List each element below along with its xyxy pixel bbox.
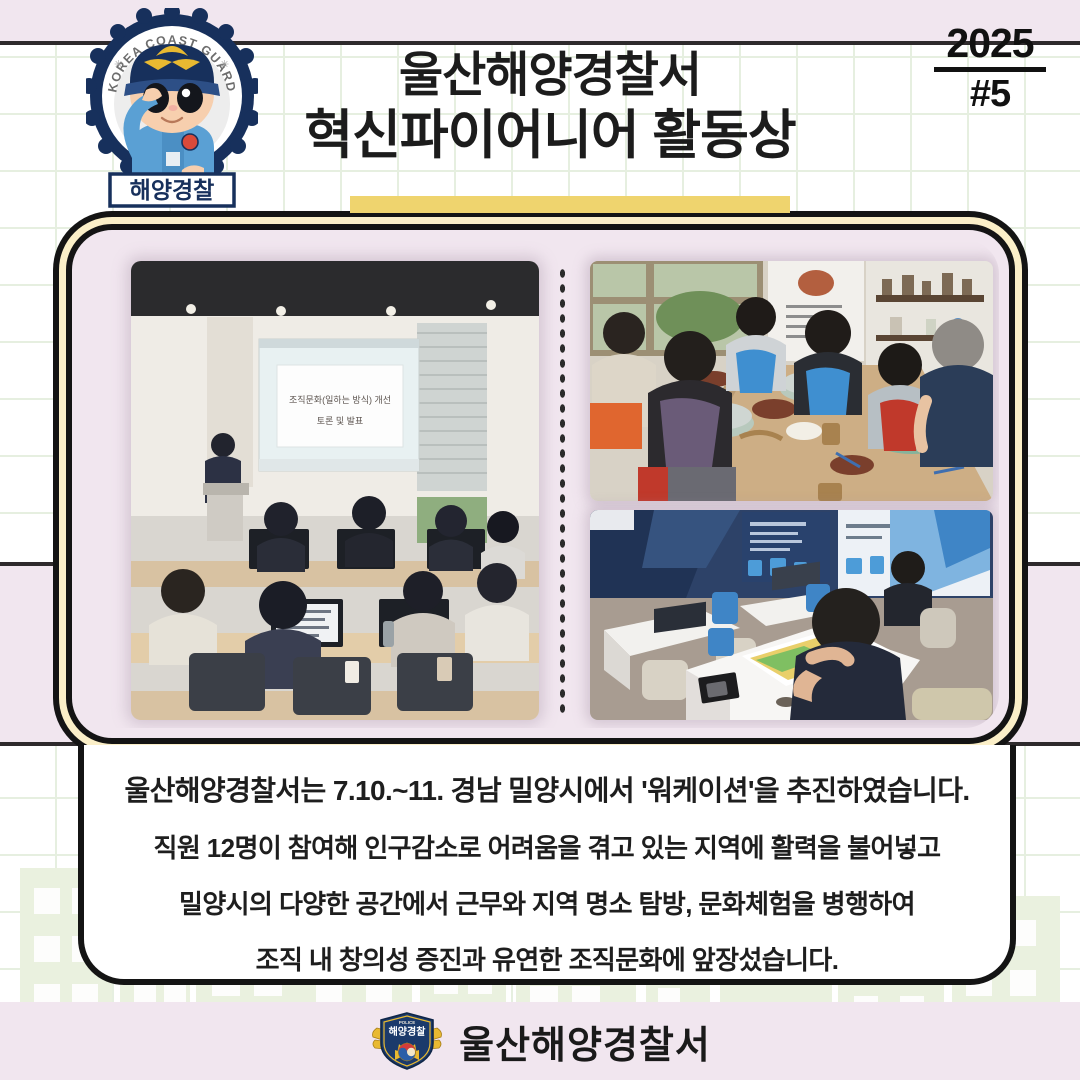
svg-text:✳: ✳ — [220, 59, 229, 71]
photo-divider-dotted — [558, 266, 567, 716]
svg-text:POLICE: POLICE — [399, 1020, 415, 1025]
svg-text:해양경찰: 해양경찰 — [389, 1025, 427, 1038]
korea-coast-guard-mascot-icon: KOREA COAST GUARD ✳ ✳ — [86, 8, 258, 208]
svg-text:조직문화(일하는 방식) 개선: 조직문화(일하는 방식) 개선 — [289, 395, 391, 405]
pottery-workshop-photo[interactable] — [590, 261, 993, 501]
issue-number: #5 — [930, 75, 1050, 115]
issue-year: 2025 — [930, 22, 1050, 65]
title-highlight-bar — [350, 196, 790, 213]
header: KOREA COAST GUARD ✳ ✳ — [0, 0, 1080, 226]
title-line-2: 혁신파이어니어 활동상 — [250, 105, 850, 168]
issue-divider — [934, 67, 1046, 72]
issue-badge: 2025 #5 — [930, 22, 1050, 115]
coast-guard-shield-emblem-icon: POLICE 해양경찰 — [369, 1010, 445, 1072]
title-line-1: 울산해양경찰서 — [250, 48, 850, 105]
description-line-3: 밀양시의 다양한 공간에서 근무와 지역 명소 탐방, 문화체험을 병행하여 — [110, 891, 984, 917]
description-textbox: 울산해양경찰서는 7.10.~11. 경남 밀양시에서 '워케이션'을 추진하였… — [78, 745, 1016, 985]
svg-text:해양경찰: 해양경찰 — [130, 177, 215, 203]
workshop-presentation-photo[interactable]: 조직문화(일하는 방식) 개선 토론 및 발표 — [131, 261, 539, 720]
svg-text:✳: ✳ — [114, 59, 123, 71]
description-line-1: 울산해양경찰서는 7.10.~11. 경남 밀양시에서 '워케이션'을 추진하였… — [110, 777, 984, 805]
description-line-2: 직원 12명이 참여해 인구감소로 어려움을 겪고 있는 지역에 활력을 불어넣… — [110, 835, 984, 861]
page-title: 울산해양경찰서 혁신파이어니어 활동상 — [250, 48, 850, 167]
footer-agency-name: 울산해양경찰서 — [459, 1014, 711, 1069]
footer: POLICE 해양경찰 울산해양경찰서 — [0, 1002, 1080, 1080]
description-line-4: 조직 내 창의성 증진과 유연한 조직문화에 앞장섰습니다. — [110, 947, 984, 973]
photo-collage-inner: 조직문화(일하는 방식) 개선 토론 및 발표 — [82, 240, 999, 728]
exhibition-kiosk-photo[interactable] — [590, 510, 993, 720]
photo-collage-card: 조직문화(일하는 방식) 개선 토론 및 발표 — [66, 224, 1015, 744]
svg-text:토론 및 발표: 토론 및 발표 — [317, 415, 363, 426]
